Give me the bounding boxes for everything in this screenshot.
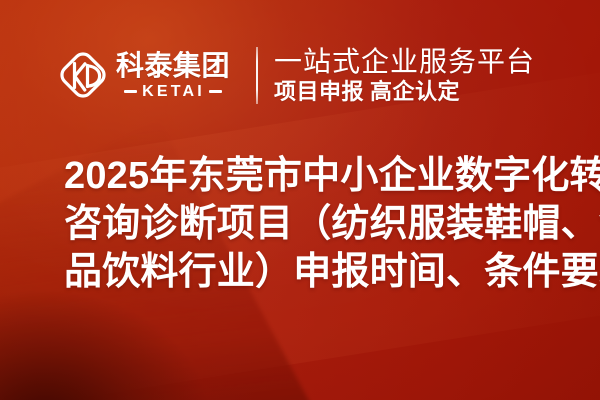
promo-banner: 科泰集团 KETAI 一站式企业服务平台 项目申报 高企认定 2025年东莞市中… [0, 0, 600, 400]
brand-tagline: 一站式企业服务平台 项目申报 高企认定 [274, 46, 535, 104]
dash-left-icon [124, 90, 137, 93]
vertical-divider-icon [256, 47, 258, 104]
dash-right-icon [209, 90, 222, 93]
page-title-line-1: 2025年东莞市中小企业数字化转型 [64, 152, 576, 200]
banner-header: 科泰集团 KETAI 一站式企业服务平台 项目申报 高企认定 [0, 40, 600, 110]
tagline-secondary: 项目申报 高企认定 [274, 79, 535, 104]
page-title-line-2: 咨询诊断项目（纺织服装鞋帽、食 [64, 200, 576, 248]
brand-name-cn: 科泰集团 [116, 51, 230, 81]
brand-logo[interactable]: 科泰集团 KETAI [58, 46, 230, 104]
tagline-primary: 一站式企业服务平台 [274, 46, 535, 77]
brand-name-en: KETAI [142, 84, 205, 100]
brand-wordmark: 科泰集团 KETAI [116, 51, 230, 100]
page-title: 2025年东莞市中小企业数字化转型 咨询诊断项目（纺织服装鞋帽、食 品饮料行业）… [64, 152, 576, 296]
ketai-kd-diamond-logo-icon [58, 46, 108, 104]
brand-name-en-row: KETAI [116, 84, 230, 100]
page-title-line-3: 品饮料行业）申报时间、条件要求 [64, 248, 576, 296]
